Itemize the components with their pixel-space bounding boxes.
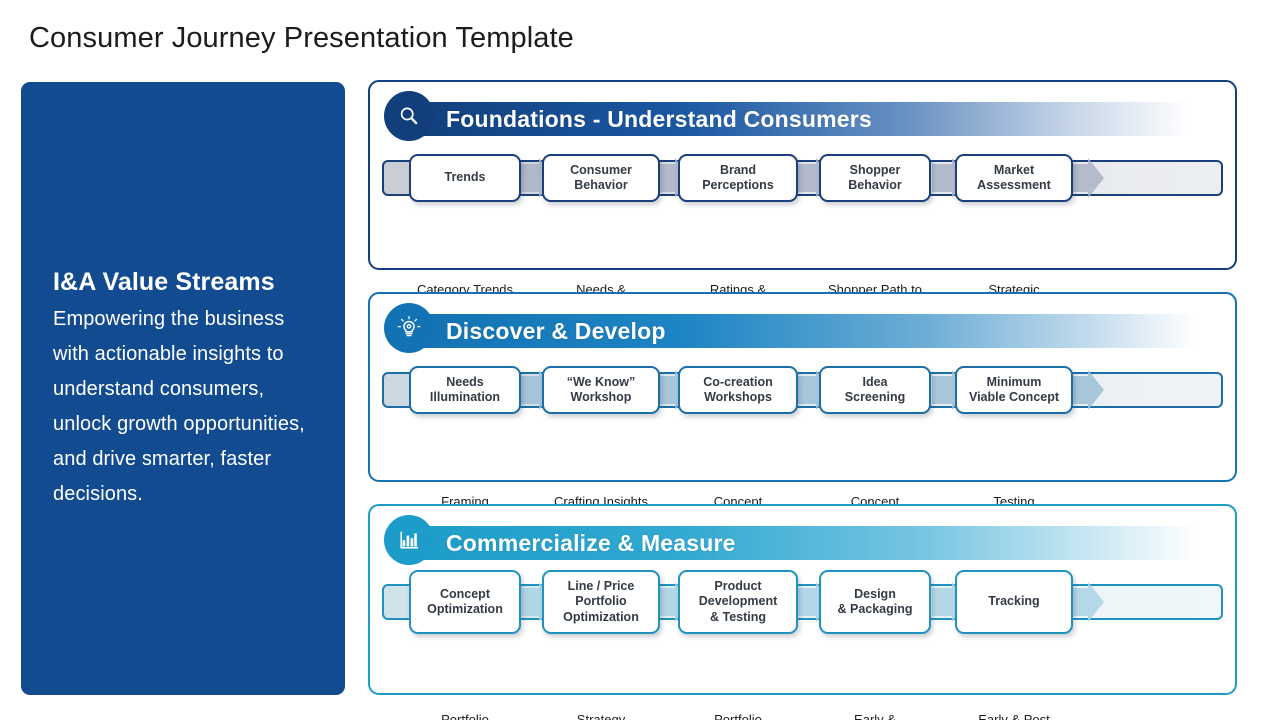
- process-step-node[interactable]: Product Development & Testing: [678, 570, 798, 634]
- section-card-discover-develop: Discover & Develop Needs IlluminationFra…: [368, 292, 1237, 482]
- lightbulb-icon: [384, 303, 434, 353]
- process-strip: Needs IlluminationFraming“We Know” Works…: [382, 366, 1223, 414]
- process-step-node[interactable]: Brand Perceptions: [678, 154, 798, 202]
- process-step-node[interactable]: Idea Screening: [819, 366, 931, 414]
- section-title: Foundations - Understand Consumers: [446, 101, 872, 137]
- section-card-foundations: Foundations - Understand Consumers Trend…: [368, 80, 1237, 270]
- process-step-node[interactable]: Tracking: [955, 570, 1073, 634]
- sidebar-heading: I&A Value Streams: [53, 265, 313, 300]
- value-streams-sidebar: I&A Value Streams Empowering the busines…: [21, 82, 345, 695]
- process-step-node[interactable]: Needs Illumination: [409, 366, 521, 414]
- process-step-node[interactable]: Design & Packaging: [819, 570, 931, 634]
- sidebar-body-text: Empowering the business with actionable …: [53, 302, 313, 512]
- bar-chart-icon: [384, 515, 434, 565]
- section-header: Discover & Develop: [384, 311, 1221, 351]
- process-strip: TrendsCategory Trends & ForecastsConsume…: [382, 154, 1223, 202]
- page-title: Consumer Journey Presentation Template: [29, 22, 574, 55]
- process-step-node[interactable]: Shopper Behavior: [819, 154, 931, 202]
- section-title: Commercialize & Measure: [446, 525, 736, 561]
- process-step-node[interactable]: Market Assessment: [955, 154, 1073, 202]
- process-step-node[interactable]: “We Know” Workshop: [542, 366, 660, 414]
- process-step-node[interactable]: Trends: [409, 154, 521, 202]
- section-title: Discover & Develop: [446, 313, 666, 349]
- process-step-node[interactable]: Consumer Behavior: [542, 154, 660, 202]
- process-step-node[interactable]: Concept Optimization: [409, 570, 521, 634]
- process-step-node[interactable]: Line / Price Portfolio Optimization: [542, 570, 660, 634]
- process-step-caption: Early & Post Launch Eval: [923, 712, 1105, 720]
- section-header: Foundations - Understand Consumers: [384, 99, 1221, 139]
- slide-canvas: Consumer Journey Presentation Template I…: [0, 0, 1280, 720]
- section-header: Commercialize & Measure: [384, 523, 1221, 563]
- section-card-commercialize-measure: Commercialize & Measure Concept Optimiza…: [368, 504, 1237, 695]
- process-strip: Concept OptimizationPortfolio StrategyLi…: [382, 578, 1223, 626]
- process-step-node[interactable]: Minimum Viable Concept: [955, 366, 1073, 414]
- magnifier-icon: [384, 91, 434, 141]
- process-step-node[interactable]: Co-creation Workshops: [678, 366, 798, 414]
